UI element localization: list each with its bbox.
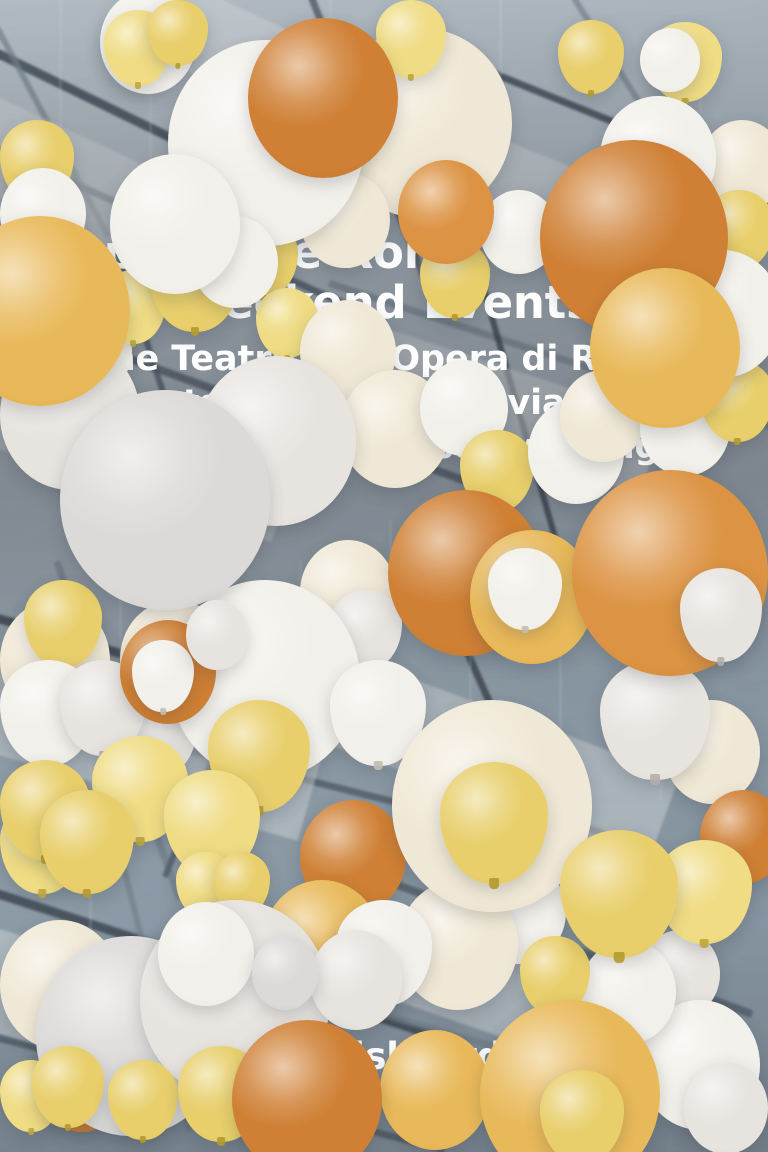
balloon — [684, 1062, 768, 1152]
balloon — [310, 930, 402, 1030]
balloon — [252, 936, 318, 1010]
balloon — [40, 790, 134, 894]
balloon-string — [60, 0, 61, 140]
balloon — [186, 600, 248, 670]
balloon — [248, 18, 398, 178]
balloon — [158, 902, 254, 1006]
balloon — [380, 1030, 490, 1150]
balloon — [640, 28, 700, 92]
balloon — [558, 20, 624, 94]
balloon — [540, 1070, 624, 1152]
balloon — [590, 268, 740, 428]
background-photo — [0, 0, 768, 1152]
balloon — [60, 390, 270, 610]
event-card: Experience Rome's Vibrant Weekend Events… — [0, 0, 768, 1152]
balloon — [398, 160, 494, 264]
balloon — [110, 154, 240, 294]
balloon — [680, 568, 762, 662]
